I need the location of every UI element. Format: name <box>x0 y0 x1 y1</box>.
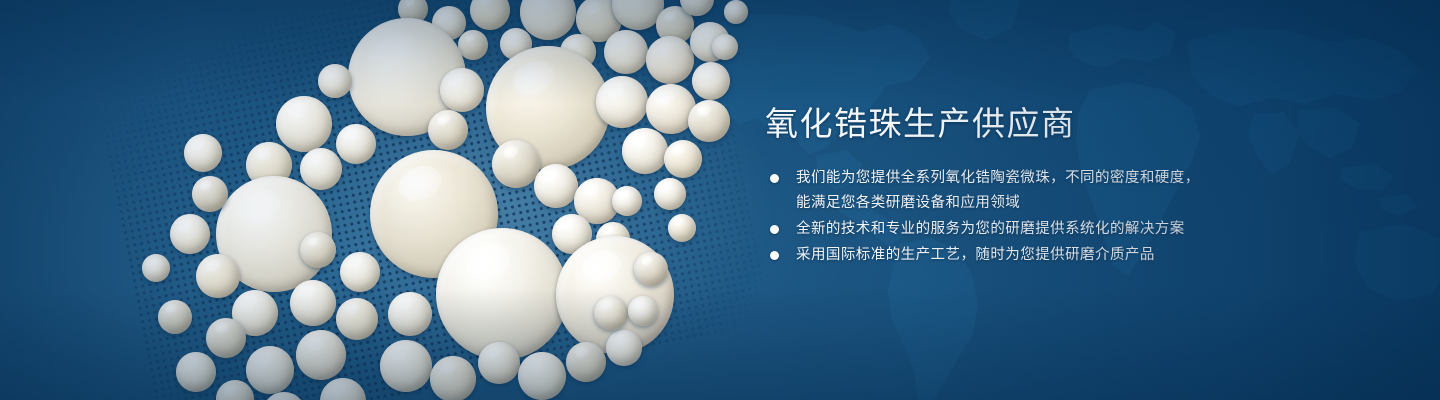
hero-banner: 氧化锆珠生产供应商 我们能为您提供全系列氧化锆陶瓷微珠，不同的密度和硬度， 能满… <box>0 0 1440 400</box>
banner-vignette-overlay <box>0 0 1440 400</box>
